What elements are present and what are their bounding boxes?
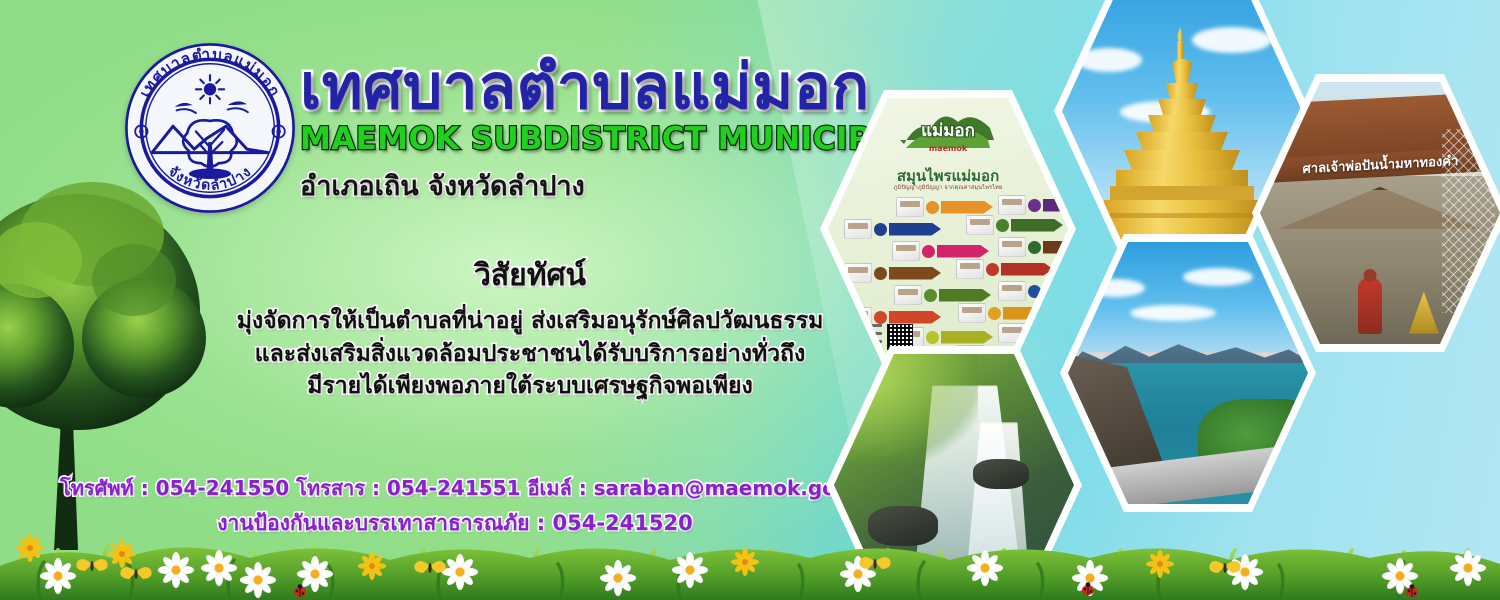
product-dot: [922, 245, 935, 258]
vision-line-1: มุ่งจัดการให้เป็นตำบลที่น่าอยู่ ส่งเสริม…: [180, 305, 880, 338]
product-dot: [986, 263, 999, 276]
product-dot: [988, 307, 1001, 320]
reservoir-sky: [1068, 242, 1308, 352]
vision-line-2: และส่งเสริมสิ่งแวดล้อมประชาชนได้รับบริกา…: [180, 338, 880, 371]
product-card: [998, 237, 1026, 257]
product-dot: [1028, 241, 1041, 254]
municipality-banner: เทศบาลตำบลแม่มอก จังหวัดลำปาง: [0, 0, 1500, 600]
cloud-shape: [1087, 279, 1145, 297]
product-arrow: [1011, 219, 1063, 232]
product-dot: [926, 331, 939, 344]
waterfall-foliage: [834, 354, 978, 464]
poster-logo-text: แม่มอก: [921, 121, 975, 141]
product-arrow: [889, 267, 941, 280]
maemok-brand-logo-icon: แม่มอก maemok: [896, 106, 1000, 162]
product-card: [896, 197, 924, 217]
product-arrow: [1043, 327, 1068, 340]
product-card: [966, 215, 994, 235]
product-dot: [996, 219, 1009, 232]
product-dot: [874, 223, 887, 236]
vision-statement-block: วิสัยทัศน์ มุ่งจัดการให้เป็นตำบลที่น่าอย…: [180, 252, 880, 403]
vision-heading: วิสัยทัศน์: [180, 252, 880, 299]
product-arrow: [1001, 263, 1053, 276]
product-arrow: [937, 245, 989, 258]
product-card: [958, 303, 986, 323]
pagoda-structure: [1102, 27, 1262, 242]
vision-line-3: มีรายได้เพียงพอภายใต้ระบบเศรษฐกิจพอเพียง: [180, 370, 880, 403]
product-card: [844, 219, 872, 239]
product-card: [998, 281, 1026, 301]
grass-flower-border: [0, 508, 1500, 600]
poster-logo-subtext: maemok: [929, 144, 968, 153]
municipal-seal-logo: เทศบาลตำบลแม่มอก จังหวัดลำปาง: [122, 40, 298, 216]
product-card: [998, 195, 1026, 215]
shrine-statue: [1358, 278, 1382, 334]
product-card: [956, 259, 984, 279]
product-arrow: [939, 289, 991, 302]
product-arrow: [941, 331, 993, 344]
product-arrow: [941, 201, 993, 214]
product-dot: [926, 201, 939, 214]
product-dot: [924, 289, 937, 302]
product-dot: [874, 267, 887, 280]
product-card: [894, 285, 922, 305]
hexagon-photo-collage: แม่มอก maemok สมุนไพรแม่มอก ภูมิปัญญาภูม…: [800, 0, 1500, 566]
waterfall-rock: [973, 459, 1029, 489]
poster-product-grid: [838, 196, 1058, 330]
product-dot: [1028, 199, 1041, 212]
poster-subtitle: ภูมิปัญญาภูมิปัญญา จากคุณค่าสมุนไพรไทย: [828, 184, 1068, 192]
contact-line-primary[interactable]: โทรศัพท์ : 054-241550 โทรสาร : 054-24155…: [60, 472, 850, 506]
cloud-shape: [1130, 305, 1216, 321]
product-card: [892, 241, 920, 261]
product-card: [844, 349, 872, 360]
product-arrow: [889, 223, 941, 236]
